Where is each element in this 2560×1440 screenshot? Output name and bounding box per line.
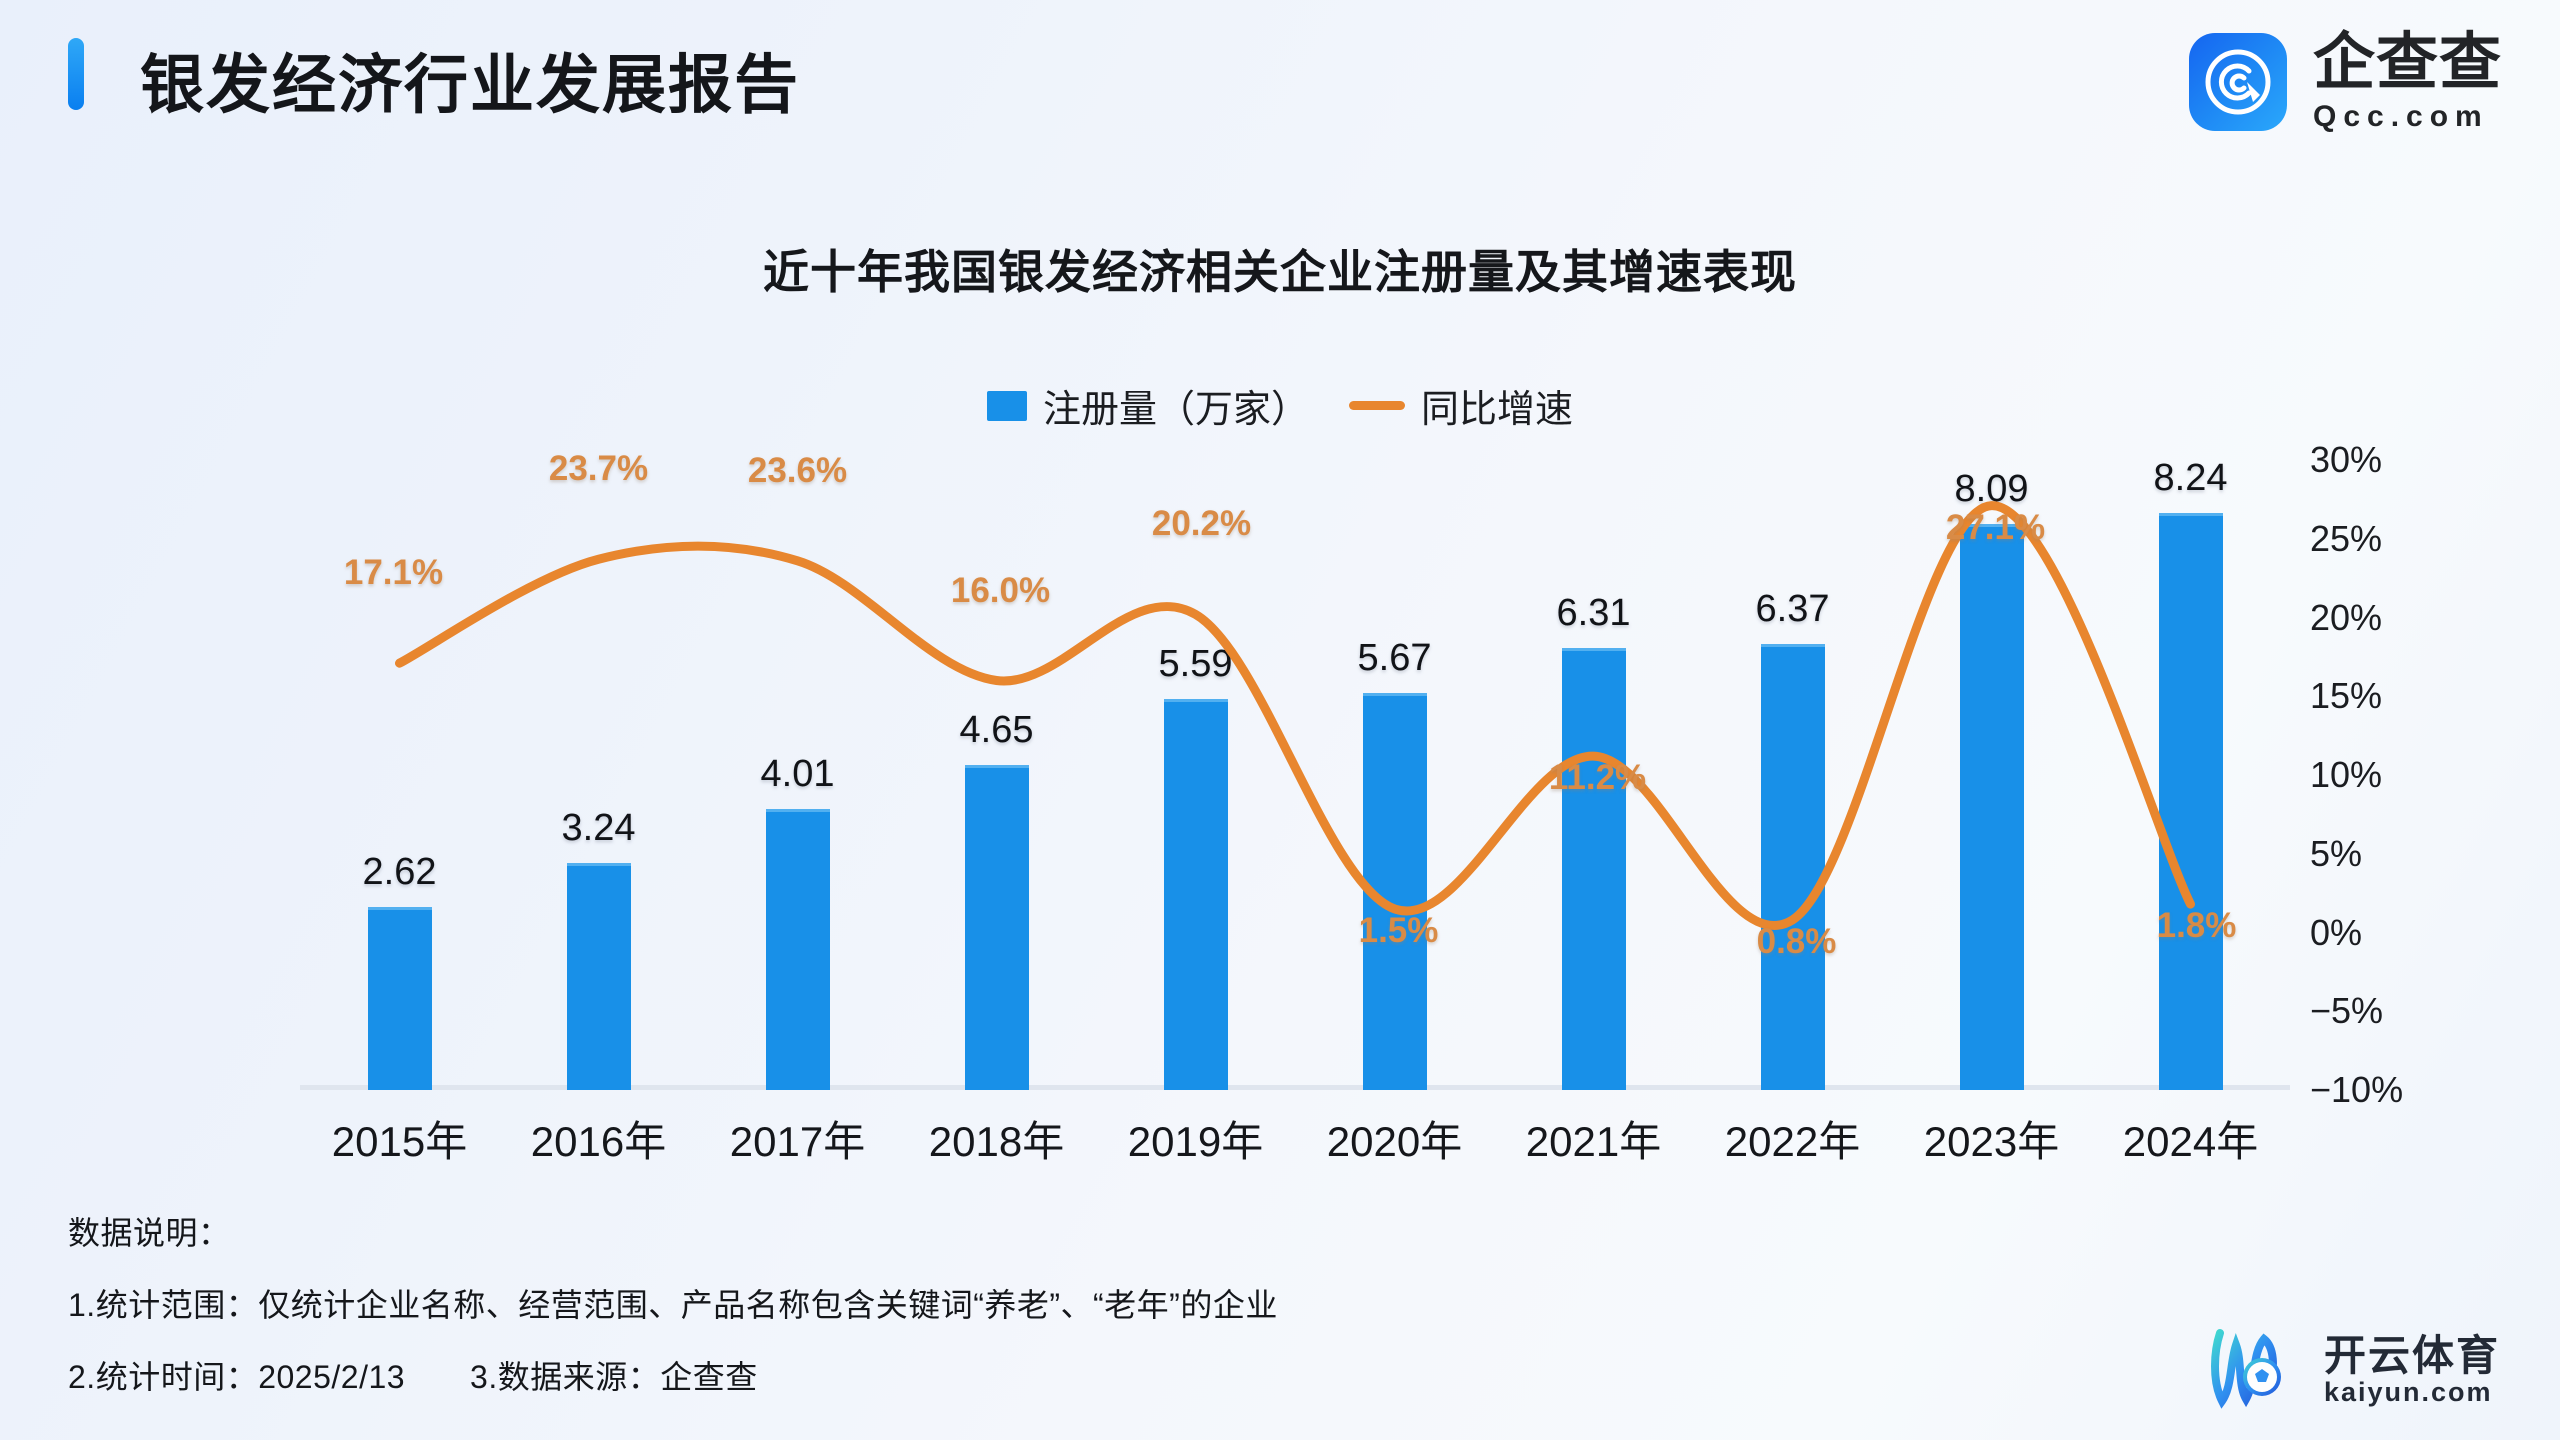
notes-line-1: 1.统计范围：仅统计企业名称、经营范围、产品名称包含关键词“养老”、“老年”的企…: [68, 1280, 1278, 1326]
y-axis-right-tick: 0%: [2310, 915, 2490, 951]
notes-heading: 数据说明：: [68, 1208, 1278, 1254]
y-axis-right-tick: −5%: [2310, 993, 2490, 1029]
growth-rate-label: 20.2%: [1112, 504, 1292, 544]
x-axis-label-2022年: 2022年: [1693, 1108, 1893, 1169]
y-axis-right-tick: −10%: [2310, 1072, 2490, 1108]
kaiyun-watermark: 开云体育 kaiyun.com: [2202, 1325, 2500, 1416]
x-axis-label-2018年: 2018年: [897, 1108, 1097, 1169]
x-axis-label-2024年: 2024年: [2091, 1108, 2291, 1169]
x-axis-labels: 2015年2016年2017年2018年2019年2020年2021年2022年…: [300, 1108, 2290, 1178]
y-axis-right-tick: 20%: [2310, 600, 2490, 636]
y-axis-right-tick: 5%: [2310, 836, 2490, 872]
x-axis-label-2019年: 2019年: [1096, 1108, 1296, 1169]
title-accent-bar: [68, 38, 84, 110]
legend-label-bar: 注册量（万家）: [1043, 378, 1309, 433]
growth-rate-label: 0.8%: [1707, 922, 1887, 962]
y-axis-right-tick: 25%: [2310, 521, 2490, 557]
growth-rate-label: 11.2%: [1508, 758, 1688, 798]
line-series: 17.1%23.7%23.6%16.0%20.2%1.5%11.2%0.8%27…: [300, 460, 2290, 1090]
chart-title: 近十年我国银发经济相关企业注册量及其增速表现: [0, 236, 2560, 302]
y-axis-right-tick: 15%: [2310, 678, 2490, 714]
data-notes: 数据说明： 1.统计范围：仅统计企业名称、经营范围、产品名称包含关键词“养老”、…: [68, 1208, 1278, 1424]
growth-rate-label: 1.8%: [2107, 906, 2287, 946]
legend-item-line[interactable]: 同比增速: [1349, 378, 1573, 433]
legend-label-line: 同比增速: [1421, 378, 1573, 433]
growth-rate-label: 1.5%: [1309, 911, 1489, 951]
growth-rate-label: 17.1%: [304, 553, 484, 593]
qcc-logo-en: Qcc.com: [2313, 102, 2502, 132]
growth-rate-label: 27.1%: [1906, 508, 2086, 548]
kaiyun-logo-icon: [2202, 1325, 2306, 1416]
report-page: 银发经济行业发展报告 企查查 Qcc.com 近十年我国银发经济相关企业注册量及…: [0, 0, 2560, 1440]
x-axis-label-2016年: 2016年: [499, 1108, 699, 1169]
x-axis-label-2020年: 2020年: [1295, 1108, 1495, 1169]
growth-rate-label: 23.6%: [708, 451, 888, 491]
legend-swatch-bar-icon: [987, 391, 1027, 421]
legend-swatch-line-icon: [1349, 401, 1405, 410]
kaiyun-watermark-cn: 开云体育: [2324, 1334, 2500, 1378]
notes-line-2: 2.统计时间：2025/2/13 3.数据来源：企查查: [68, 1352, 1278, 1398]
page-title: 银发经济行业发展报告: [140, 34, 800, 126]
growth-rate-line: [300, 460, 2290, 1090]
chart-plot-area: 9876543210 30%25%20%15%10%5%0%−5%−10% 2.…: [300, 460, 2290, 1090]
qcc-logo-text: 企查查 Qcc.com: [2313, 32, 2502, 132]
qcc-logo: 企查查 Qcc.com: [2189, 32, 2502, 132]
x-axis-label-2023年: 2023年: [1892, 1108, 2092, 1169]
growth-rate-label: 16.0%: [911, 571, 1091, 611]
kaiyun-watermark-en: kaiyun.com: [2324, 1378, 2500, 1408]
growth-rate-label: 23.7%: [509, 449, 689, 489]
qcc-logo-icon: [2189, 33, 2287, 131]
x-axis-label-2021年: 2021年: [1494, 1108, 1694, 1169]
chart-legend: 注册量（万家） 同比增速: [0, 378, 2560, 433]
legend-item-bar[interactable]: 注册量（万家）: [987, 378, 1309, 433]
x-axis-label-2015年: 2015年: [300, 1108, 500, 1169]
x-axis-label-2017年: 2017年: [698, 1108, 898, 1169]
y-axis-right-tick: 10%: [2310, 757, 2490, 793]
qcc-logo-cn: 企查查: [2313, 32, 2502, 94]
kaiyun-watermark-text: 开云体育 kaiyun.com: [2324, 1334, 2500, 1408]
y-axis-right-tick: 30%: [2310, 442, 2490, 478]
